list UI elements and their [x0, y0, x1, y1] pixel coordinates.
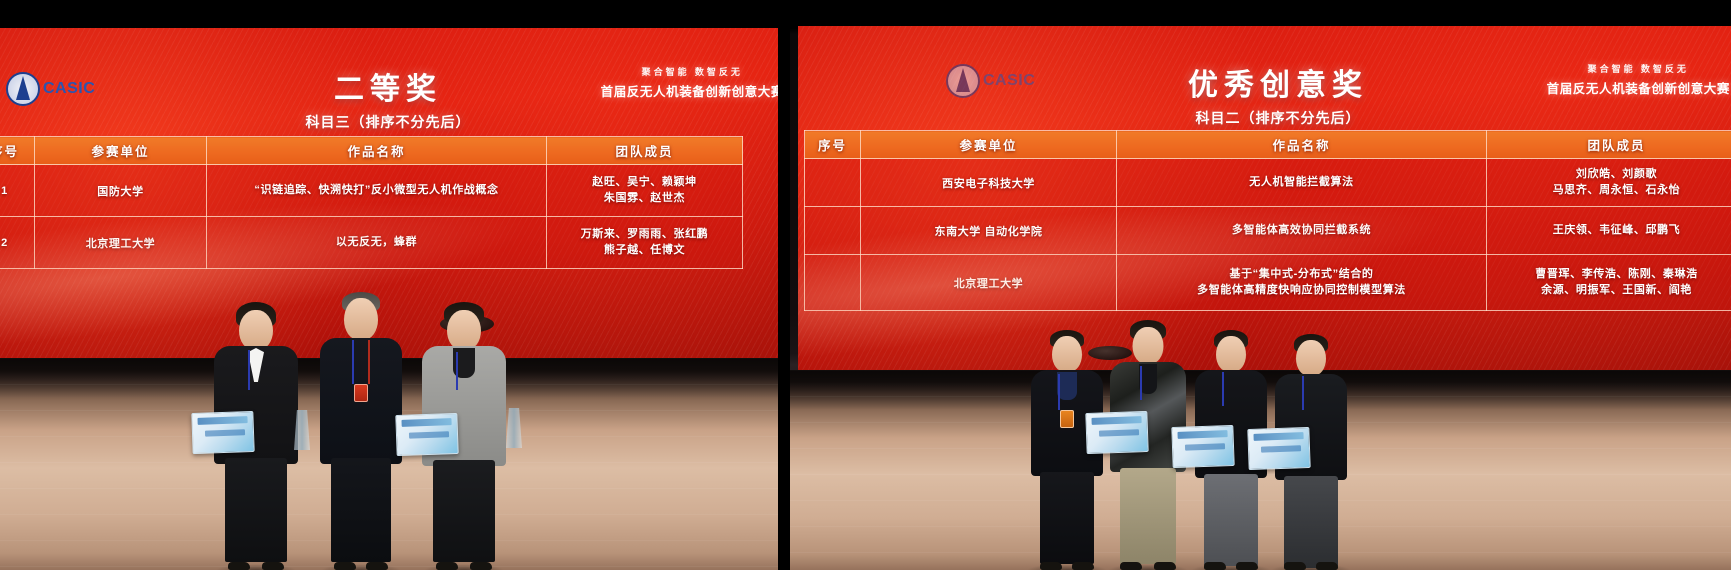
- person-right-4: [1272, 334, 1350, 570]
- award-recipients-right: [790, 150, 1731, 570]
- photo-collage: CASIC 二等奖 科目三（排序不分先后） 聚合智能 数智反无 首届反无人机装备…: [0, 0, 1731, 570]
- award-subtitle-right: 科目二（排序不分先后）: [798, 108, 1731, 128]
- letterbox-top: [790, 0, 1731, 24]
- certificate: [395, 413, 458, 456]
- id-badge: [354, 384, 368, 402]
- event-brand-right: 聚合智能 数智反无 首届反无人机装备创新创意大赛: [1547, 62, 1730, 97]
- person-left-1: [210, 302, 302, 570]
- certificate: [1085, 411, 1148, 454]
- award-recipients-left: [0, 150, 778, 570]
- person-left-2: [318, 292, 404, 570]
- event-name: 首届反无人机装备创新创意大赛: [1547, 78, 1730, 97]
- trophy: [506, 408, 522, 448]
- event-slogan: 聚合智能 数智反无: [1547, 62, 1730, 75]
- event-brand-left: 聚合智能 数智反无 首届反无人机装备创新创意大赛: [601, 65, 778, 100]
- award-subtitle-left: 科目三（排序不分先后）: [0, 112, 778, 132]
- right-photo-panel: CASIC 优秀创意奖 科目二（排序不分先后） 聚合智能 数智反无 首届反无人机…: [790, 0, 1731, 570]
- event-slogan: 聚合智能 数智反无: [601, 65, 778, 78]
- person-left-3: [418, 302, 510, 570]
- certificate: [191, 411, 254, 454]
- event-name: 首届反无人机装备创新创意大赛: [601, 81, 778, 100]
- left-photo-panel: CASIC 二等奖 科目三（排序不分先后） 聚合智能 数智反无 首届反无人机装备…: [0, 0, 778, 570]
- certificate: [1171, 425, 1234, 468]
- panel-gutter: [778, 0, 790, 570]
- certificate: [1247, 427, 1310, 470]
- lanyard: [248, 350, 250, 390]
- id-badge: [1060, 410, 1074, 428]
- letterbox-top: [0, 0, 778, 26]
